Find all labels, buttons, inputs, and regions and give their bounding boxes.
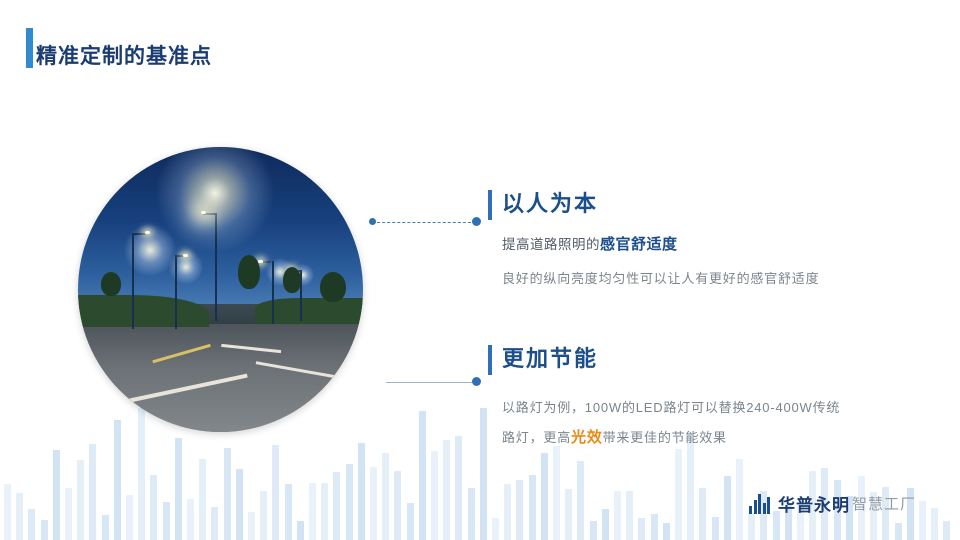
tree-4 [101, 272, 121, 296]
decorative-bar [77, 460, 84, 540]
decorative-bar [455, 436, 462, 540]
tree-1 [238, 255, 260, 289]
decorative-bar [748, 513, 755, 540]
decorative-bar [504, 484, 511, 540]
tree-2 [283, 267, 301, 293]
logo-bar [754, 500, 757, 514]
tree-3 [320, 272, 346, 302]
decorative-bar [297, 521, 304, 540]
decorative-bar [419, 411, 426, 540]
street-lamp-main [201, 211, 206, 214]
decorative-bar [614, 491, 621, 540]
decorative-bar [175, 438, 182, 540]
logo-bar [767, 497, 770, 514]
decorative-bar [943, 521, 950, 540]
decorative-bar [224, 448, 231, 540]
decorative-bar [931, 508, 938, 540]
connector-solid-bottom [386, 382, 476, 383]
decorative-bar [651, 514, 658, 540]
slide-root: 精准定制的基准点 [0, 0, 960, 540]
road-surface [78, 324, 363, 432]
decorative-bar [895, 523, 902, 540]
decorative-bar [626, 491, 633, 540]
decorative-bar [431, 451, 438, 540]
block1-body: 良好的纵向亮度均匀性可以让人有更好的感官舒适度 [502, 264, 819, 294]
decorative-bar [211, 507, 218, 540]
connector-node-right-bottom [472, 377, 481, 386]
decorative-bar [28, 509, 35, 540]
logo-bar [758, 494, 761, 514]
decorative-bar [16, 493, 23, 540]
page-title: 精准定制的基准点 [36, 40, 212, 70]
block2-body-line2-b: 带来更佳的节能效果 [603, 430, 727, 445]
block1-subtitle-strong: 感官舒适度 [600, 236, 678, 253]
decorative-bar [370, 467, 377, 540]
block2-title: 更加节能 [502, 341, 840, 373]
decorative-bar [272, 445, 279, 540]
decorative-bar [236, 469, 243, 540]
logo-bar [749, 506, 752, 514]
company-logo: 华普永明 智慧工厂 [749, 490, 916, 516]
decorative-bar [529, 475, 536, 540]
street-photo-circle [78, 147, 363, 432]
logo-suffix: 智慧工厂 [852, 493, 916, 514]
decorative-bar [260, 491, 267, 540]
decorative-bar [541, 453, 548, 540]
decorative-bar [602, 509, 609, 540]
feature-block-people-first: 以人为本 提高道路照明的感官舒适度 良好的纵向亮度均匀性可以让人有更好的感官舒适… [488, 186, 819, 294]
logo-bar [763, 503, 766, 514]
decorative-bar [346, 464, 353, 540]
street-pole-3 [272, 261, 274, 324]
feature-block-energy-saving: 更加节能 以路灯为例，100W的LED路灯可以替换240-400W传统 路灯，更… [488, 341, 840, 453]
block2-body-line2: 路灯，更高光效带来更佳的节能效果 [502, 423, 840, 453]
decorative-bar [4, 484, 11, 540]
decorative-bar [394, 471, 401, 540]
decorative-bar [285, 484, 292, 540]
decorative-bar [163, 502, 170, 540]
decorative-bar [712, 517, 719, 540]
block1-title: 以人为本 [502, 186, 819, 218]
decorative-bar [102, 515, 109, 540]
decorative-bar [590, 521, 597, 540]
decorative-bar [699, 488, 706, 540]
connector-node-right-top [472, 217, 481, 226]
decorative-bar [675, 449, 682, 540]
decorative-bar [126, 495, 133, 540]
street-pole-2 [175, 255, 177, 329]
block1-accent [488, 190, 492, 220]
logo-bars-icon [749, 492, 773, 514]
decorative-bar [443, 440, 450, 540]
block1-subtitle: 提高道路照明的感官舒适度 [502, 233, 819, 254]
decorative-bar [724, 476, 731, 540]
decorative-bar [577, 461, 584, 540]
block2-body-line2-a: 路灯，更高 [502, 430, 571, 445]
block1-subtitle-plain: 提高道路照明的 [502, 237, 600, 252]
decorative-bar [199, 459, 206, 540]
decorative-bar [53, 450, 60, 540]
decorative-bar [736, 459, 743, 540]
block2-highlight: 光效 [571, 429, 603, 446]
decorative-bar [65, 488, 72, 540]
title-accent-bar [26, 28, 33, 68]
decorative-bar [382, 453, 389, 540]
logo-brand: 华普永明 [778, 491, 850, 516]
street-pole-main [215, 213, 217, 321]
decorative-bar [41, 520, 48, 540]
decorative-bar [663, 523, 670, 540]
decorative-bar [407, 503, 414, 540]
decorative-bar [468, 488, 475, 540]
photo-inner [78, 147, 363, 432]
connector-dashed-top [372, 222, 476, 223]
street-lamp-1 [145, 231, 150, 234]
decorative-bar [248, 512, 255, 540]
block2-body-line1: 以路灯为例，100W的LED路灯可以替换240-400W传统 [502, 393, 840, 423]
connector-node-left-top [369, 218, 376, 225]
block2-accent [488, 345, 492, 375]
decorative-bar [638, 518, 645, 540]
decorative-bar [919, 501, 926, 540]
decorative-bar [89, 444, 96, 540]
decorative-bar [321, 483, 328, 540]
decorative-bar [480, 408, 487, 540]
decorative-bar [333, 472, 340, 540]
decorative-bar [492, 518, 499, 540]
decorative-bar [187, 499, 194, 540]
decorative-bar [565, 489, 572, 540]
decorative-bar [358, 443, 365, 540]
street-pole-1 [132, 233, 134, 330]
decorative-bar [309, 483, 316, 540]
decorative-bar [516, 480, 523, 540]
decorative-bar [114, 420, 121, 540]
decorative-bar [553, 446, 560, 540]
decorative-bar [150, 475, 157, 540]
